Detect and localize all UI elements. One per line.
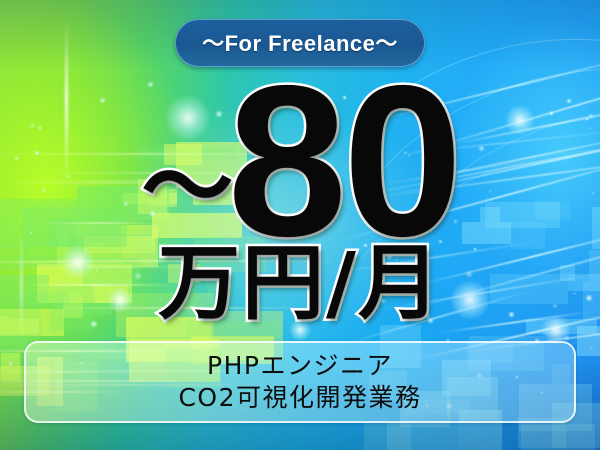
price-unit-row: 万円/月: [0, 243, 600, 325]
sparkle-dot: [590, 346, 593, 349]
freelance-rate-banner: 〜For Freelance〜 〜 80 万円/月 PHPエンジニア CO2可視…: [0, 0, 600, 450]
job-description-box: PHPエンジニア CO2可視化開発業務: [24, 341, 576, 423]
job-detail-label: CO2可視化開発業務: [178, 383, 421, 414]
freelance-badge: 〜For Freelance〜: [175, 19, 425, 67]
price-amount: 80: [227, 62, 458, 260]
job-role-label: PHPエンジニア: [207, 351, 393, 382]
price-prefix-tilde: 〜: [141, 142, 233, 234]
price-unit: 万円/月: [158, 243, 442, 325]
badge-container: 〜For Freelance〜: [0, 19, 600, 67]
price-row: 〜 80: [0, 62, 600, 260]
